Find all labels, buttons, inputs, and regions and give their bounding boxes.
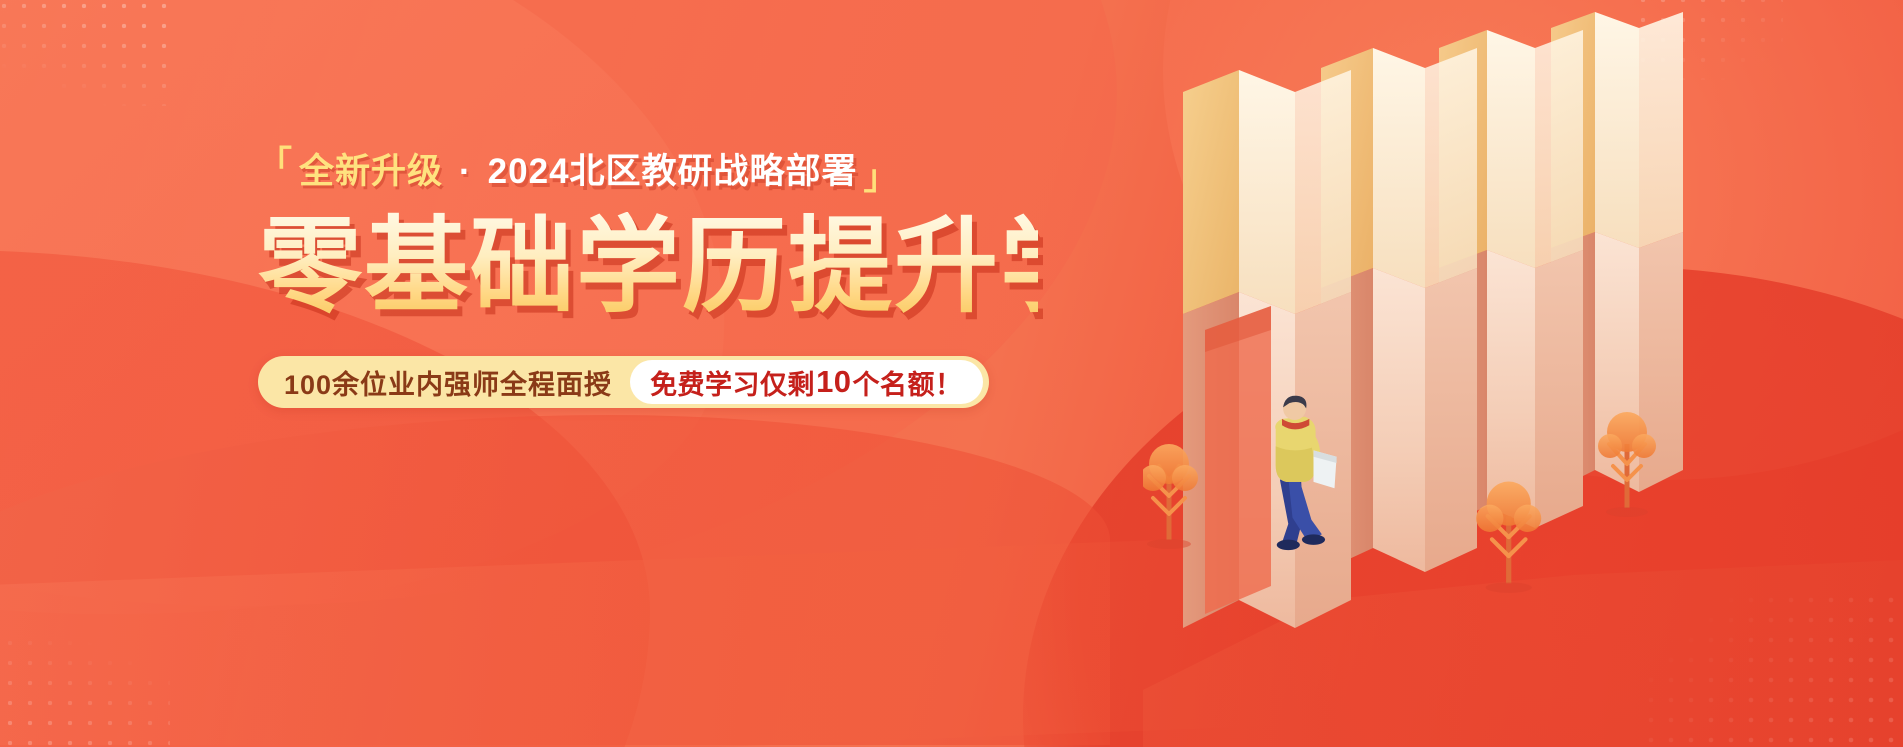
tree-left bbox=[1143, 444, 1198, 549]
dot-texture-bottom-left bbox=[0, 633, 170, 747]
dot-texture-top-left bbox=[0, 0, 174, 106]
book-arch-1 bbox=[1183, 70, 1351, 628]
illustration-books-and-student bbox=[1143, 0, 1903, 747]
walking-student bbox=[1275, 396, 1336, 550]
pill-right-suffix: 个名额！ bbox=[853, 363, 963, 402]
background-blob-bottom-right bbox=[1023, 267, 1903, 747]
pill-right-badge: 免费学习仅剩10个名额！ bbox=[630, 360, 982, 404]
book-arch-3 bbox=[1439, 30, 1583, 528]
pill-right-number: 10 bbox=[815, 364, 852, 400]
banner-subtitle: 「 全新升级 · 2024北区教研战略部署 」 bbox=[258, 146, 1038, 196]
background-streak bbox=[0, 535, 1280, 747]
tree-center bbox=[1476, 482, 1541, 593]
doorway-opening bbox=[1205, 306, 1271, 614]
subtitle-rest: 2024北区教研战略部署 bbox=[488, 154, 858, 189]
tree-right bbox=[1598, 412, 1656, 517]
subtitle-highlight: 全新升级 bbox=[299, 154, 443, 189]
pill-left-label: 100余位业内强师全程面授 bbox=[284, 363, 630, 402]
promo-banner: 「 全新升级 · 2024北区教研战略部署 」 零基础学历提升学霸班 100余位… bbox=[0, 0, 1903, 747]
background-ribbon bbox=[0, 415, 1110, 745]
banner-copy: 「 全新升级 · 2024北区教研战略部署 」 零基础学历提升学霸班 100余位… bbox=[258, 146, 1038, 408]
book-arch-4 bbox=[1551, 12, 1683, 492]
dot-texture-top-right bbox=[1633, 0, 1783, 80]
book-arch-2 bbox=[1321, 48, 1477, 572]
dot-texture-bottom-right bbox=[1641, 590, 1903, 747]
ground-shadow bbox=[1143, 560, 1903, 747]
page-title: 零基础学历提升学霸班 bbox=[258, 212, 1038, 322]
open-bracket: 「 bbox=[258, 147, 293, 181]
close-bracket: 」 bbox=[864, 161, 899, 195]
pill-right-prefix: 免费学习仅剩 bbox=[650, 363, 815, 402]
subtitle-separator: · bbox=[449, 154, 482, 189]
highlight-pill: 100余位业内强师全程面授 免费学习仅剩10个名额！ bbox=[258, 356, 989, 408]
